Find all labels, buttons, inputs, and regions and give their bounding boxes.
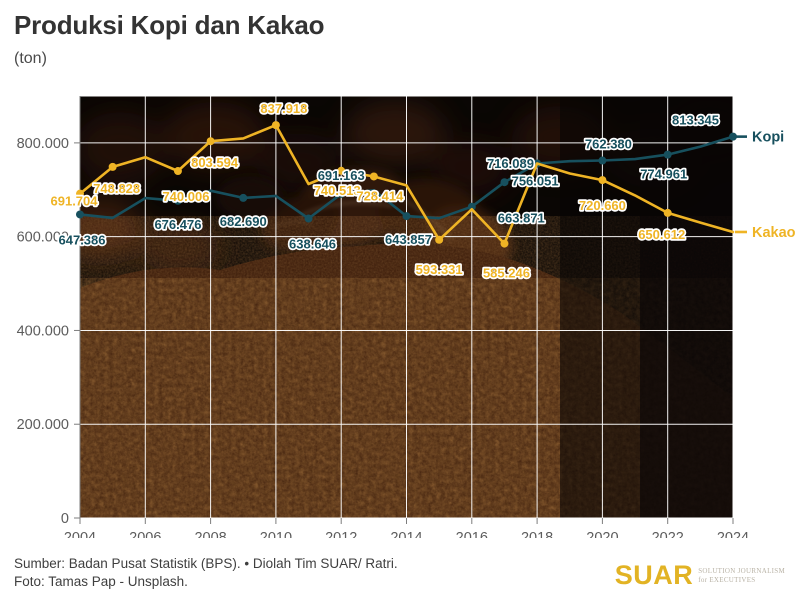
- x-axis-tick-label: 2006: [129, 530, 161, 538]
- data-point-marker: [174, 167, 182, 175]
- page-title: Produksi Kopi dan Kakao: [14, 10, 324, 41]
- data-point-marker: [272, 121, 280, 129]
- data-point-marker: [500, 240, 508, 248]
- data-point-marker: [239, 194, 247, 202]
- data-label: 813.345: [672, 113, 719, 128]
- data-label: 740.006: [162, 189, 209, 204]
- data-label: 682.690: [220, 214, 267, 229]
- data-point-marker: [305, 215, 313, 223]
- x-axis-tick-label: 2008: [194, 530, 226, 538]
- data-label: 756.051: [512, 173, 559, 188]
- line-chart: 0200.000400.000600.000800.000 2004200620…: [0, 88, 795, 538]
- logo-tagline-line2: for EXECUTIVES: [698, 576, 755, 584]
- data-label: 837.918: [260, 101, 307, 116]
- x-axis-tick-label: 2010: [260, 530, 292, 538]
- data-label: 762.380: [585, 137, 632, 152]
- y-axis-tick-label: 400.000: [17, 323, 69, 339]
- data-point-marker: [207, 137, 215, 145]
- data-point-marker: [598, 157, 606, 165]
- legend-label-kopi: Kopi: [752, 130, 784, 146]
- data-label: 647.386: [59, 232, 106, 247]
- data-label: 720.660: [579, 198, 626, 213]
- data-label: 593.331: [416, 262, 463, 277]
- data-point-marker: [370, 172, 378, 180]
- footer-source: Sumber: Badan Pusat Statistik (BPS). • D…: [14, 555, 398, 591]
- data-label: 643.857: [385, 232, 432, 247]
- data-label: 638.646: [289, 237, 336, 252]
- x-axis-tick-label: 2004: [64, 530, 96, 538]
- x-axis-tick-label: 2012: [325, 530, 357, 538]
- logo-tagline: SOLUTION JOURNALISMfor EXECUTIVES: [698, 567, 785, 585]
- x-axis-ticks: 2004200620082010201220142016201820202022…: [64, 518, 749, 538]
- chart-container: 0200.000400.000600.000800.000 2004200620…: [0, 88, 795, 538]
- data-point-marker: [403, 212, 411, 220]
- footer-line-source: Sumber: Badan Pusat Statistik (BPS). • D…: [14, 555, 398, 573]
- data-label: 803.594: [191, 155, 239, 170]
- data-label: 774.961: [640, 167, 687, 182]
- data-point-marker: [500, 178, 508, 186]
- data-label: 663.871: [498, 211, 545, 226]
- data-label: 676.476: [154, 217, 201, 232]
- data-label: 585.246: [483, 266, 530, 281]
- plot-background-photo: [56, 96, 750, 518]
- data-point-marker: [76, 210, 84, 218]
- x-axis-tick-label: 2020: [586, 530, 618, 538]
- data-point-marker: [664, 209, 672, 217]
- chart-legend: KopiKakao: [735, 130, 795, 241]
- data-label: 691.704: [51, 194, 99, 209]
- data-label: 748.828: [93, 181, 140, 196]
- x-axis-tick-label: 2014: [390, 530, 422, 538]
- data-point-marker: [664, 151, 672, 159]
- y-axis-ticks: 0200.000400.000600.000800.000: [17, 96, 80, 527]
- y-axis-tick-label: 200.000: [17, 417, 69, 433]
- logo-tagline-line1: SOLUTION JOURNALISM: [698, 567, 785, 575]
- data-label: 716.089: [487, 156, 534, 171]
- logo-wordmark: SUAR: [615, 560, 694, 591]
- y-axis-tick-label: 800.000: [17, 136, 69, 152]
- data-label: 691.163: [318, 168, 365, 183]
- footer-line-photo: Foto: Tamas Pap - Unsplash.: [14, 573, 398, 591]
- data-point-marker: [435, 236, 443, 244]
- x-axis-tick-label: 2016: [456, 530, 488, 538]
- data-label: 728.414: [356, 188, 404, 203]
- data-point-marker: [109, 163, 117, 171]
- page-subtitle: (ton): [14, 50, 47, 68]
- legend-label-kakao: Kakao: [752, 225, 795, 241]
- data-label: 740.513: [314, 183, 361, 198]
- x-axis-tick-label: 2022: [652, 530, 684, 538]
- data-label: 650.612: [638, 227, 685, 242]
- y-axis-tick-label: 0: [61, 511, 69, 527]
- x-axis-tick-label: 2024: [717, 530, 749, 538]
- x-axis-tick-label: 2018: [521, 530, 553, 538]
- suar-logo: SUARSOLUTION JOURNALISMfor EXECUTIVES: [615, 560, 785, 591]
- data-point-marker: [598, 176, 606, 184]
